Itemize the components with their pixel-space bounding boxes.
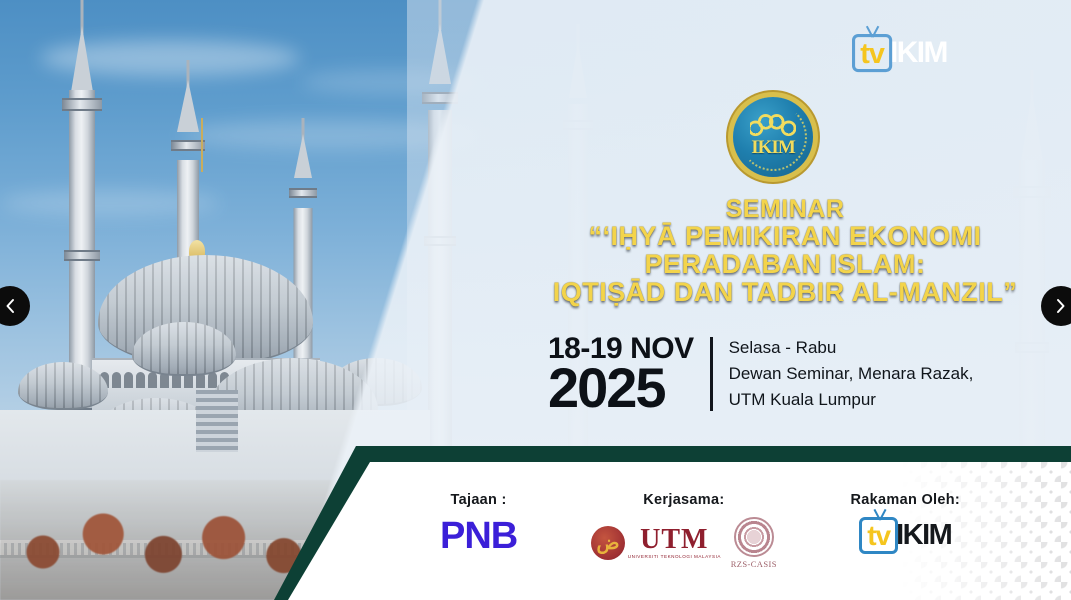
utm-wordmark: UTM UNIVERSITI TEKNOLOGI MALAYSIA <box>630 527 719 559</box>
sponsor-logos: ض UTM UNIVERSITI TEKNOLOGI MALAYSIA RZS-… <box>591 517 777 569</box>
ikim-logo-text: IKIM <box>890 38 947 68</box>
sponsor-group-tajaan: Tajaan : PNB <box>440 492 517 555</box>
seminar-headline: SEMINAR “‘IḤYĀ PEMIKIRAN EKONOMI PERADAB… <box>505 196 1065 306</box>
utm-logo-text: UTM <box>640 527 708 554</box>
vertical-divider <box>710 337 713 411</box>
pnb-logo: PNB <box>440 517 517 555</box>
utm-logo: ض UTM UNIVERSITI TEKNOLOGI MALAYSIA <box>591 526 719 560</box>
utm-seal-icon: ض <box>591 526 625 560</box>
seminar-banner-slide: tv IKIM IKIM SEMINAR “‘IḤYĀ PEMIKIRAN EK… <box>0 0 1071 600</box>
date-venue-block: 18-19 NOV 2025 Selasa - Rabu Dewan Semin… <box>548 334 973 414</box>
headline-line-4: IQTIṢĀD DAN TADBIR AL-MANZIL” <box>505 278 1065 306</box>
utm-seal-glyph: ض <box>596 534 619 553</box>
headline-line-3: PERADABAN ISLAM: <box>505 250 1065 278</box>
chevron-left-icon <box>4 298 16 314</box>
venue-block: Selasa - Rabu Dewan Seminar, Menara Raza… <box>729 335 974 412</box>
sponsor-caption: Tajaan : <box>451 492 507 508</box>
tv-ikim-logo-bottom: tv IKIM <box>859 517 951 554</box>
utm-logo-subtitle: UNIVERSITI TEKNOLOGI MALAYSIA <box>628 554 721 559</box>
date-year: 2025 <box>548 362 694 414</box>
ikim-emblem-icon: IKIM <box>733 97 813 177</box>
ikim-logo-text: IKIM <box>896 521 951 550</box>
tv-frame-icon: tv <box>852 34 892 72</box>
rzs-casis-logo: RZS-CASIS <box>731 517 777 569</box>
headline-line-1: SEMINAR <box>505 196 1065 222</box>
date-block: 18-19 NOV 2025 <box>548 334 694 414</box>
tv-ikim-logo-top: tv IKIM <box>852 34 947 72</box>
antenna-icon <box>859 26 886 37</box>
sponsor-caption: Rakaman Oleh: <box>851 492 960 508</box>
tv-frame-icon: tv <box>859 517 898 554</box>
sponsor-caption: Kerjasama: <box>643 492 724 508</box>
casis-seal-icon <box>734 517 774 557</box>
weekday-range: Selasa - Rabu <box>729 335 974 361</box>
emblem-wordmark: IKIM <box>751 137 795 159</box>
antenna-icon <box>866 509 892 520</box>
sponsor-logos: tv IKIM <box>859 517 951 554</box>
tv-logo-text: tv <box>860 39 884 68</box>
tv-logo-text: tv <box>867 522 890 550</box>
sponsor-group-kerjasama: Kerjasama: ض UTM UNIVERSITI TEKNOLOGI MA… <box>591 492 777 569</box>
headline-line-2: “‘IḤYĀ PEMIKIRAN EKONOMI <box>505 222 1065 250</box>
chevron-right-icon <box>1055 298 1067 314</box>
sponsor-group-rakaman: Rakaman Oleh: tv IKIM <box>851 492 960 554</box>
sponsor-logos: PNB <box>440 517 517 555</box>
casis-logo-text: RZS-CASIS <box>731 559 777 569</box>
sponsor-row: Tajaan : PNB Kerjasama: ض UTM UNIVERSITI… <box>440 492 960 569</box>
venue-line-2: UTM Kuala Lumpur <box>729 387 974 413</box>
venue-line-1: Dewan Seminar, Menara Razak, <box>729 361 974 387</box>
